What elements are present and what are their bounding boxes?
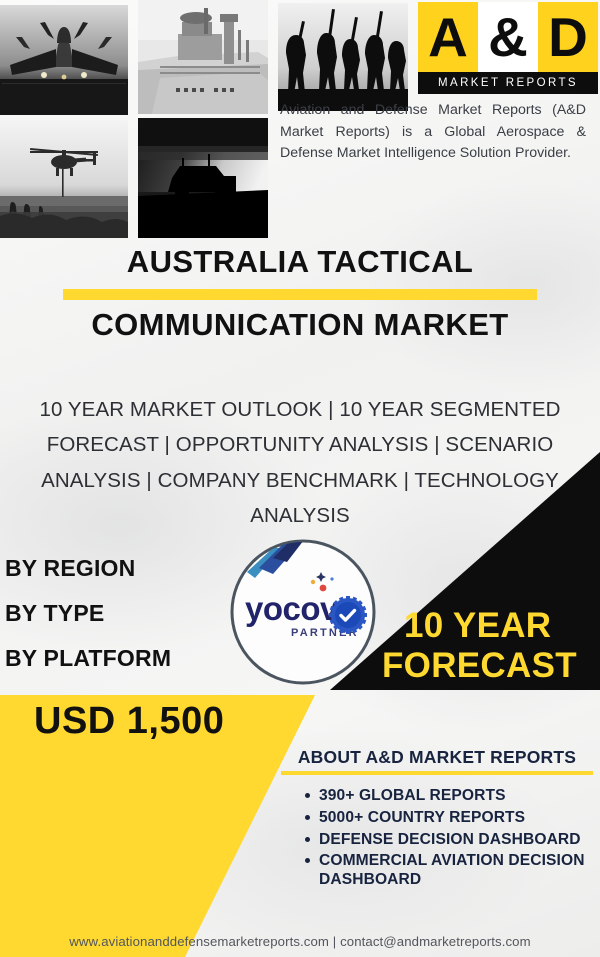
- list-item: 5000+ COUNTRY REPORTS: [305, 809, 593, 828]
- helicopter-icon: [0, 120, 128, 238]
- forecast-line-2: FORECAST: [382, 648, 600, 684]
- bullet-dot-icon: [305, 815, 310, 820]
- about-bullet-text: COMMERCIAL AVIATION DECISION DASHBOARD: [319, 852, 585, 888]
- logo-letter-ampersand: &: [478, 2, 538, 72]
- bullet-dot-icon: [305, 837, 310, 842]
- verified-seal-icon: [329, 596, 367, 634]
- logo-letter-d: D: [538, 2, 598, 72]
- company-intro-paragraph: Aviation and Defense Market Reports (A&D…: [280, 100, 586, 165]
- segmentation-list: BY REGION BY TYPE BY PLATFORM: [5, 557, 265, 692]
- yocova-badge-graphic: yocova PARTNER: [229, 538, 377, 686]
- warship-icon: [138, 0, 268, 114]
- segmentation-item-type: BY TYPE: [5, 602, 265, 625]
- soldiers-icon: [278, 3, 408, 111]
- page-title: AUSTRALIA TACTICAL COMMUNICATION MARKET: [0, 245, 600, 342]
- price-value: USD 1,500: [34, 700, 314, 743]
- armored-vehicle-photo: [138, 118, 268, 238]
- naval-ship-photo: [138, 0, 268, 114]
- forecast-line-1: 10 YEAR: [404, 608, 600, 644]
- subtitle-scope-list: 10 YEAR MARKET OUTLOOK | 10 YEAR SEGMENT…: [18, 392, 582, 533]
- about-section: ABOUT A&D MARKET REPORTS 390+ GLOBAL REP…: [281, 748, 593, 893]
- logo-letters-row: A & D: [418, 2, 598, 72]
- about-bullet-text: 5000+ COUNTRY REPORTS: [319, 809, 525, 826]
- yocova-partner-badge: yocova PARTNER: [229, 538, 377, 686]
- list-item: DEFENSE DECISION DASHBOARD: [305, 831, 593, 850]
- about-bullet-text: 390+ GLOBAL REPORTS: [319, 787, 506, 804]
- soldiers-photo: [278, 3, 408, 111]
- about-bullet-text: DEFENSE DECISION DASHBOARD: [319, 831, 581, 848]
- bullet-dot-icon: [305, 858, 310, 863]
- forecast-callout: 10 YEAR FORECAST: [404, 608, 600, 683]
- bullet-dot-icon: [305, 793, 310, 798]
- segmentation-item-region: BY REGION: [5, 557, 265, 580]
- ad-market-reports-logo: A & D MARKET REPORTS: [418, 2, 598, 94]
- helicopter-photo: [0, 120, 128, 238]
- title-line-1: AUSTRALIA TACTICAL: [0, 245, 600, 280]
- armored-vehicle-icon: [138, 118, 268, 238]
- logo-letter-a: A: [418, 2, 478, 72]
- footer-contact: www.aviationanddefensemarketreports.com …: [0, 934, 600, 949]
- about-heading: ABOUT A&D MARKET REPORTS: [281, 748, 593, 767]
- title-line-2: COMMUNICATION MARKET: [0, 308, 600, 343]
- report-poster: A & D MARKET REPORTS Aviation and Defens…: [0, 0, 600, 957]
- segmentation-item-platform: BY PLATFORM: [5, 647, 265, 670]
- logo-tagline: MARKET REPORTS: [438, 77, 578, 89]
- list-item: COMMERCIAL AVIATION DECISION DASHBOARD: [305, 852, 593, 889]
- title-yellow-rule: [63, 289, 537, 300]
- logo-tagline-bar: MARKET REPORTS: [418, 72, 598, 94]
- about-yellow-rule: [281, 771, 593, 775]
- about-bullet-list: 390+ GLOBAL REPORTS 5000+ COUNTRY REPORT…: [281, 787, 593, 890]
- fighter-jet-photo: [0, 5, 128, 115]
- fighter-jet-icon: [0, 5, 128, 115]
- list-item: 390+ GLOBAL REPORTS: [305, 787, 593, 806]
